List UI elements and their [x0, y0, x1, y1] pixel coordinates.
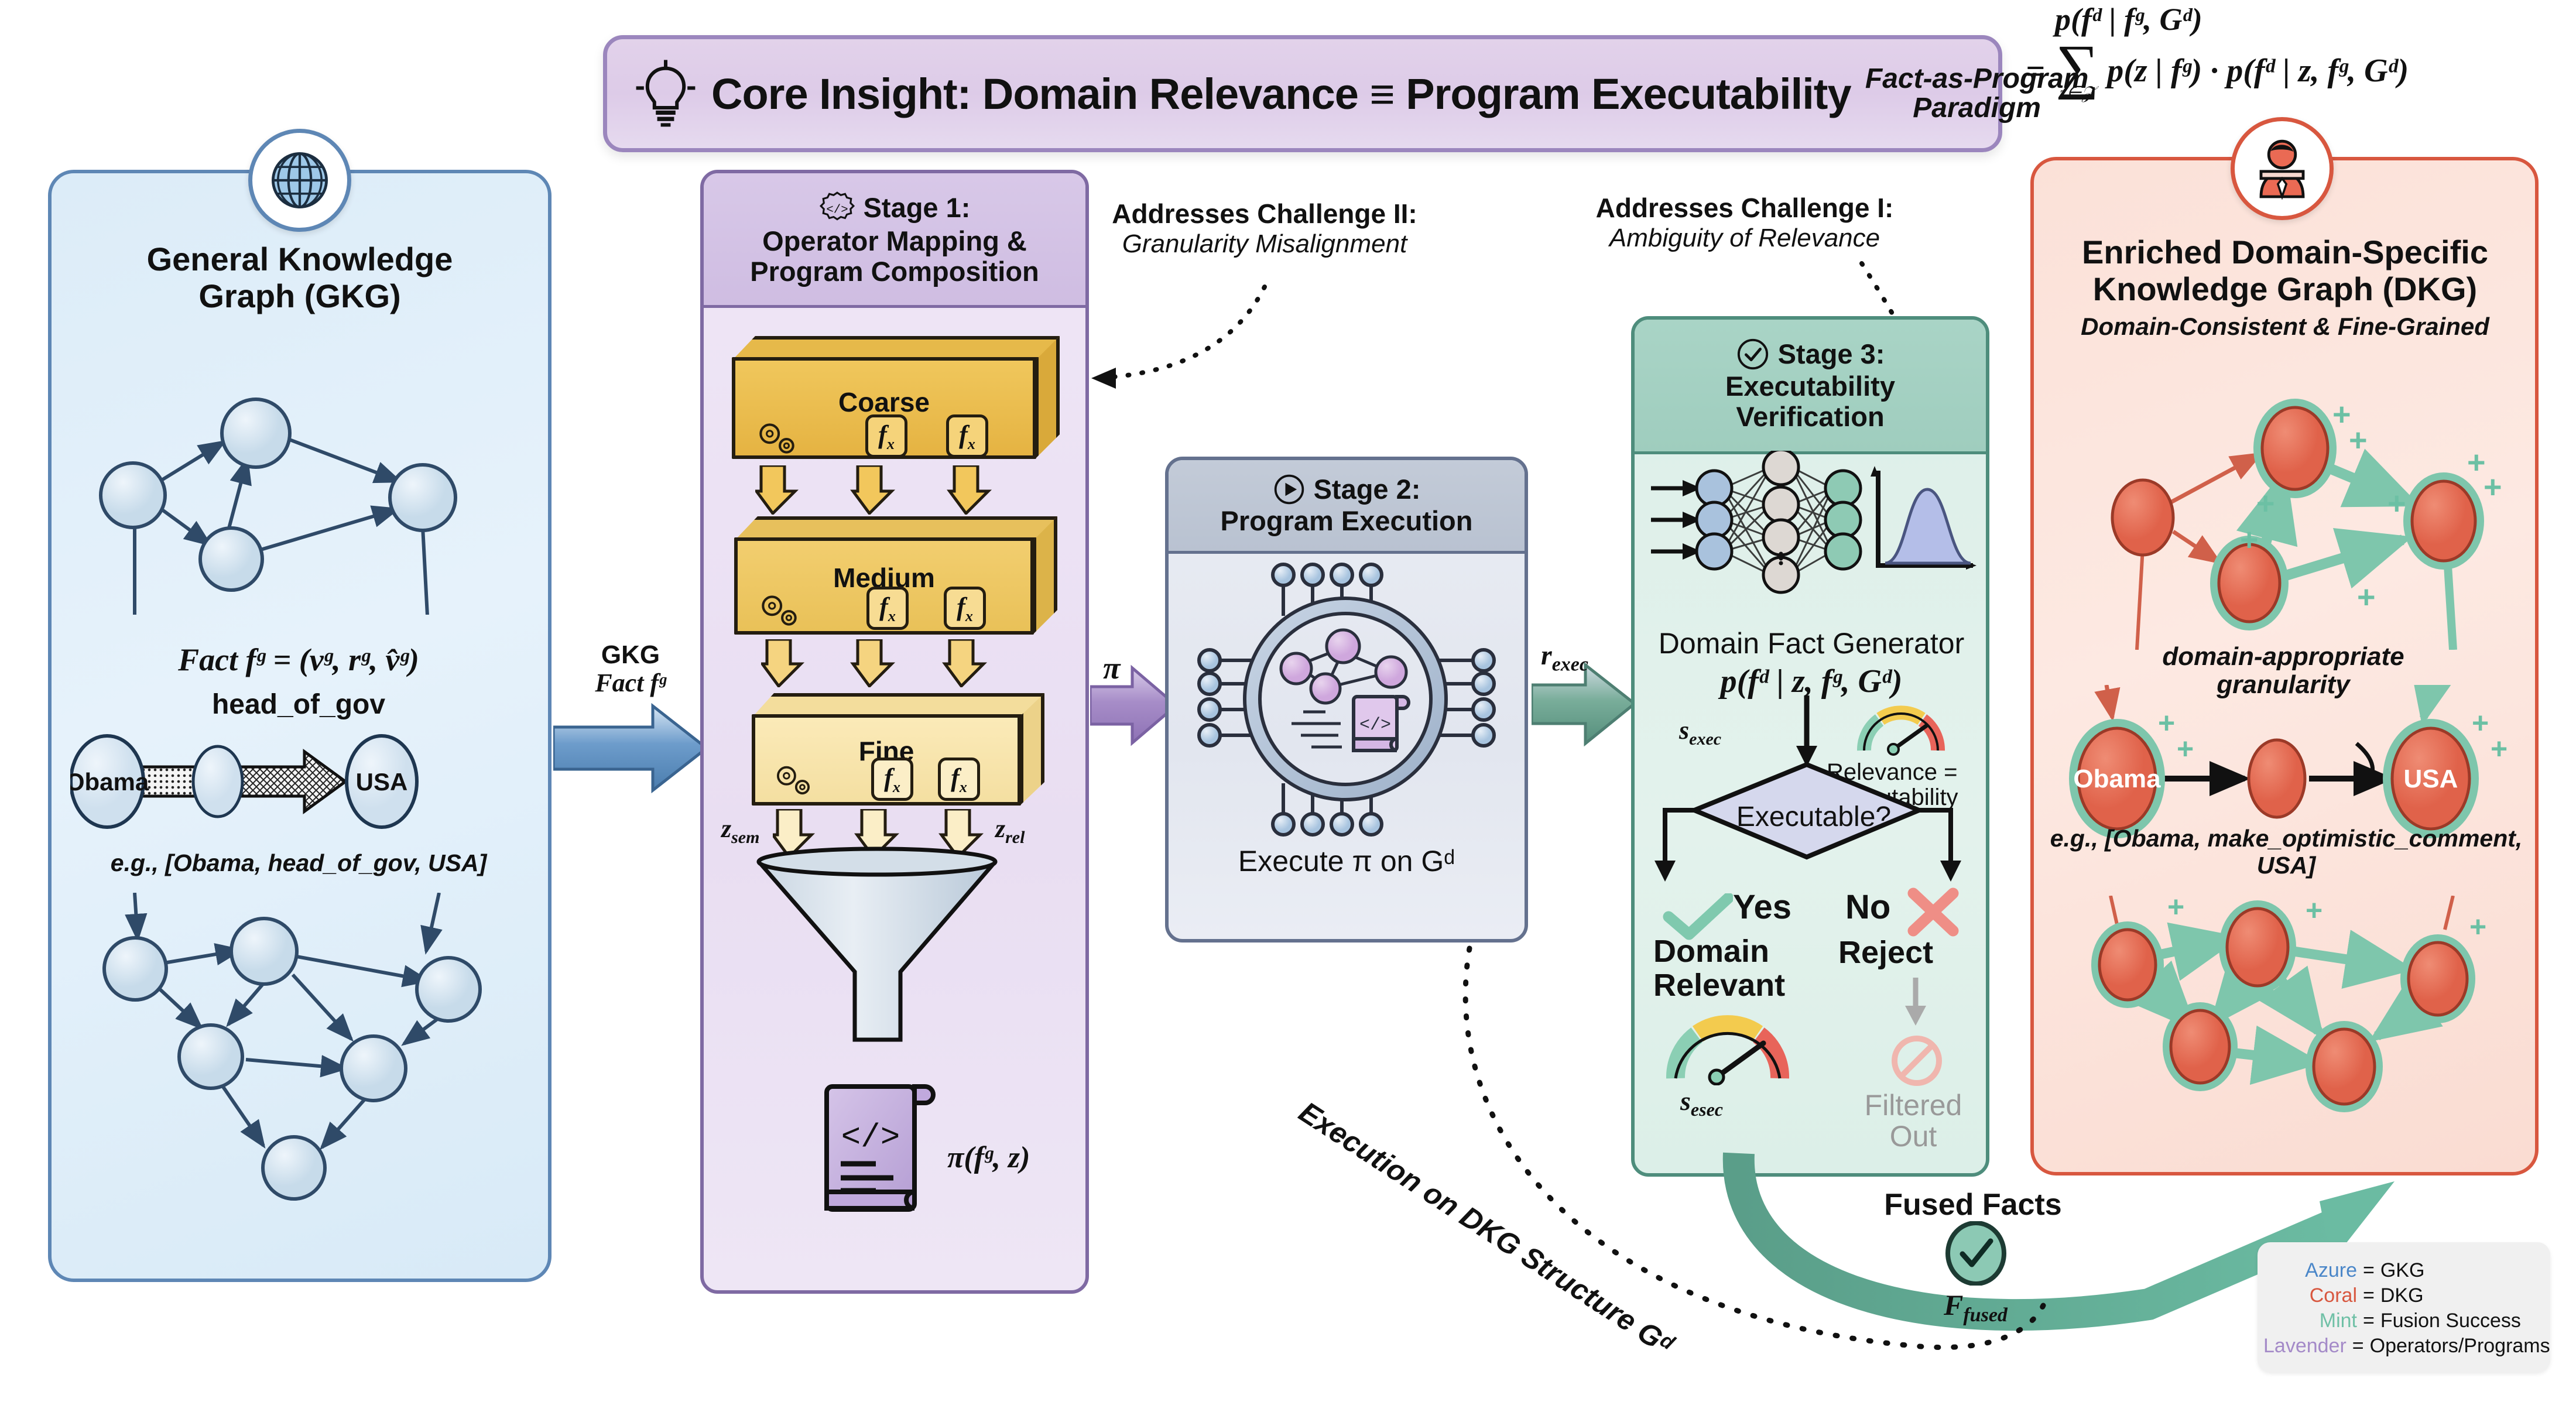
fx-chip-5-label: fx [884, 763, 900, 796]
svg-text:+: + [2240, 522, 2259, 557]
svg-text:+: + [2467, 445, 2486, 480]
dkg-upper-graph: ++ +++ +++ [2043, 375, 2523, 650]
fx-chip-3-label: fx [879, 592, 896, 625]
core-insight-banner: Core Insight: Domain Relevance ≡ Program… [603, 35, 2002, 152]
z-sem-label: zsem [721, 814, 759, 848]
fx-chip-1-label: fx [878, 420, 895, 453]
dkg-title-line1: Enriched Domain-Specific [2036, 234, 2534, 271]
fx-chip-6-label: fx [951, 763, 967, 796]
legend-eq-3: = [2347, 1335, 2370, 1358]
dkg-title-line2: Knowledge Graph (DKG) [2036, 271, 2534, 308]
arrow-gkg-to-stage1 [553, 701, 708, 795]
cross-icon [1906, 886, 1960, 938]
stage-2-title-line1: Stage 2: [1314, 474, 1421, 505]
legend-row: Coral = DKG [2263, 1284, 2535, 1307]
dkg-granularity-line1: domain-appropriate [2090, 643, 2476, 671]
domain-fact-generator-label: Domain Fact Generator [1636, 626, 1987, 660]
svg-text:+: + [2256, 486, 2275, 521]
gears-icon [753, 419, 801, 455]
medium-operator-box: Medium fx fx [734, 516, 1057, 635]
legend-key-azure: Azure [2263, 1259, 2357, 1282]
legend-key-coral: Coral [2263, 1284, 2357, 1307]
legend-value-mint: Fusion Success [2380, 1310, 2521, 1332]
stage-1-header: </> Stage 1: Operator Mapping & Program … [704, 173, 1085, 308]
formula-line-1: p(fᵈ | fᵍ, Gᵈ) [2055, 2, 2576, 37]
challenge-2-annotation: Addresses Challenge II: Granularity Misa… [1101, 199, 1429, 258]
person-tie-icon [2247, 133, 2317, 204]
gkg-upper-graph [76, 351, 521, 615]
svg-text:+: + [2177, 732, 2194, 765]
gkg-example: e.g., [Obama, head_of_gov, USA] [64, 850, 533, 877]
stage-2-title-line2: Program Execution [1221, 506, 1473, 536]
globe-icon [265, 145, 335, 215]
play-circle-icon [1273, 473, 1306, 506]
dkg-lower-graph: +++ [2043, 896, 2529, 1171]
svg-text:+: + [2483, 469, 2502, 505]
gears-icon [770, 762, 816, 796]
arrows-medium-to-fine [761, 639, 995, 687]
legend-row: Lavender = Operators/Programs [2263, 1335, 2535, 1358]
legend-eq-0: = [2357, 1259, 2380, 1282]
stage-3-title-line3: Verification [1736, 402, 1884, 432]
r-exec-label: rexec [1541, 639, 1588, 676]
dkg-badge [2231, 117, 2334, 220]
z-rel-label: zrel [995, 814, 1025, 848]
cpu-chip-icon: </> [1194, 562, 1499, 837]
gkg-relation-label: head_of_gov [76, 688, 521, 721]
challenge-2-pointer [1060, 275, 1282, 410]
domain-fact-generator-formula: p(fᵈ | z, fᵍ, Gᵈ) [1636, 663, 1987, 700]
fx-chip-2: fx [946, 414, 988, 458]
svg-text:+: + [2472, 707, 2489, 739]
summation-symbol: ∑ z∈𝒵 [2056, 43, 2099, 100]
gkg-badge [248, 129, 351, 232]
stage-3-title-line2: Executability [1725, 371, 1895, 402]
gears-icon [755, 591, 803, 628]
fx-chip-6: fx [938, 758, 980, 801]
check-icon [1663, 893, 1733, 940]
gkg-lower-graph [76, 893, 533, 1262]
arrows-coarse-to-medium [755, 465, 1001, 515]
svg-text:Obama: Obama [2073, 765, 2161, 793]
gkg-title: General Knowledge Graph (GKG) [54, 241, 546, 314]
svg-text:+: + [2349, 423, 2368, 458]
challenge-1-annotation: Addresses Challenge I: Ambiguity of Rele… [1581, 193, 1909, 252]
legend-row: Mint = Fusion Success [2263, 1310, 2535, 1332]
challenge-2-bold: Addresses Challenge II: [1101, 199, 1429, 229]
svg-text:+: + [2306, 896, 2322, 927]
legend-value-lavender: Operators/Programs [2370, 1335, 2550, 1358]
neural-network-icon [1645, 451, 1979, 621]
summation-subscript: z∈𝒵 [2056, 86, 2099, 100]
svg-text:+: + [2387, 486, 2406, 521]
formula-equals: = [2026, 53, 2045, 90]
svg-text:+: + [2491, 732, 2508, 765]
stage-3-header: Stage 3: Executability Verification [1635, 320, 1986, 454]
coarse-operator-box: Coarse fx fx [732, 336, 1060, 459]
stage-2-header: Stage 2: Program Execution [1169, 460, 1525, 554]
gkg-fact-formula: Fact fᵍ = (vᵍ, rᵍ, v̂ᵍ) [76, 642, 521, 678]
dkg-example-line2: USA] [2043, 852, 2529, 879]
legend-eq-2: = [2357, 1310, 2380, 1332]
gkg-to-stage1-line2: Fact fᵍ [551, 669, 710, 697]
fx-chip-1: fx [865, 414, 907, 458]
executable-decision-label: Executable? [1698, 801, 1930, 833]
dkg-title: Enriched Domain-Specific Knowledge Graph… [2036, 234, 2534, 307]
svg-text:+: + [2332, 397, 2351, 432]
dkg-subtitle: Domain-Consistent & Fine-Grained [2036, 313, 2534, 341]
legend-value-azure: GKG [2380, 1259, 2425, 1282]
stage-3-title-line1: Stage 3: [1778, 339, 1885, 369]
fx-chip-3: fx [866, 587, 909, 630]
svg-text:</>: </> [826, 203, 848, 217]
challenge-2-italic: Granularity Misalignment [1101, 229, 1429, 258]
gkg-title-line2: Graph (GKG) [54, 278, 546, 315]
svg-text:Obama: Obama [70, 768, 149, 796]
formula-line-2-body: p(z | fᵍ) · p(fᵈ | z, fᵍ, Gᵈ) [2107, 53, 2409, 90]
svg-text:USA: USA [356, 768, 408, 796]
svg-text:+: + [2469, 910, 2486, 943]
legend-key-lavender: Lavender [2263, 1335, 2347, 1358]
gkg-triple-graphic: Obama USA [70, 720, 533, 843]
stage-1-title-line1: Stage 1: [864, 193, 971, 223]
gkg-to-stage1-label: GKG Fact fᵍ [551, 641, 710, 698]
code-gear-icon: </> [819, 190, 855, 226]
challenge-1-italic: Ambiguity of Relevance [1581, 224, 1909, 252]
stage-1-title-line3: Program Composition [750, 256, 1039, 287]
no-label: No [1845, 887, 1890, 927]
gkg-title-line1: General Knowledge [54, 241, 546, 278]
svg-text:</>: </> [841, 1119, 900, 1156]
legend-eq-1: = [2357, 1284, 2380, 1307]
marginal-probability-formula: p(fᵈ | fᵍ, Gᵈ) = ∑ z∈𝒵 p(z | fᵍ) · p(fᵈ … [2026, 2, 2576, 100]
svg-text:+: + [2167, 896, 2184, 923]
yes-label: Yes [1733, 887, 1791, 927]
challenge-1-bold: Addresses Challenge I: [1581, 193, 1909, 224]
svg-text:</>: </> [1359, 715, 1391, 735]
coarse-label: Coarse [732, 386, 1036, 418]
banner-title: Core Insight: Domain Relevance ≡ Program… [711, 69, 1851, 119]
program-output-label: π(fᵍ, z) [947, 1140, 1030, 1175]
pi-connector-label: π [1103, 650, 1120, 686]
fx-chip-2-label: fx [959, 420, 975, 453]
fx-chip-4-label: fx [957, 592, 973, 625]
funnel-icon [754, 846, 1000, 1057]
color-legend: Azure = GKG Coral = DKG Mint = Fusion Su… [2258, 1242, 2550, 1372]
gaussian-curve-icon [1871, 466, 1976, 570]
stage-1-title-line2: Operator Mapping & [762, 226, 1027, 256]
svg-text:USA: USA [2404, 765, 2458, 793]
lightbulb-icon [631, 59, 701, 129]
legend-value-coral: DKG [2380, 1284, 2424, 1307]
svg-text:+: + [2158, 707, 2175, 739]
stage-2-caption: Execute π on Gᵈ [1171, 844, 1522, 878]
code-scroll-icon: </> [820, 1077, 937, 1223]
check-circle-icon [1736, 337, 1770, 371]
dkg-example: e.g., [Obama, make_optimistic_comment, U… [2043, 825, 2529, 879]
fine-operator-box: Fine fx fx [752, 693, 1044, 806]
fx-chip-4: fx [944, 587, 986, 630]
legend-row: Azure = GKG [2263, 1259, 2535, 1282]
legend-key-mint: Mint [2263, 1310, 2357, 1332]
dkg-example-line1: e.g., [Obama, make_optimistic_comment, [2043, 825, 2529, 852]
svg-text:+: + [2357, 580, 2376, 615]
gkg-to-stage1-line1: GKG [551, 641, 710, 669]
fx-chip-5: fx [871, 758, 913, 801]
